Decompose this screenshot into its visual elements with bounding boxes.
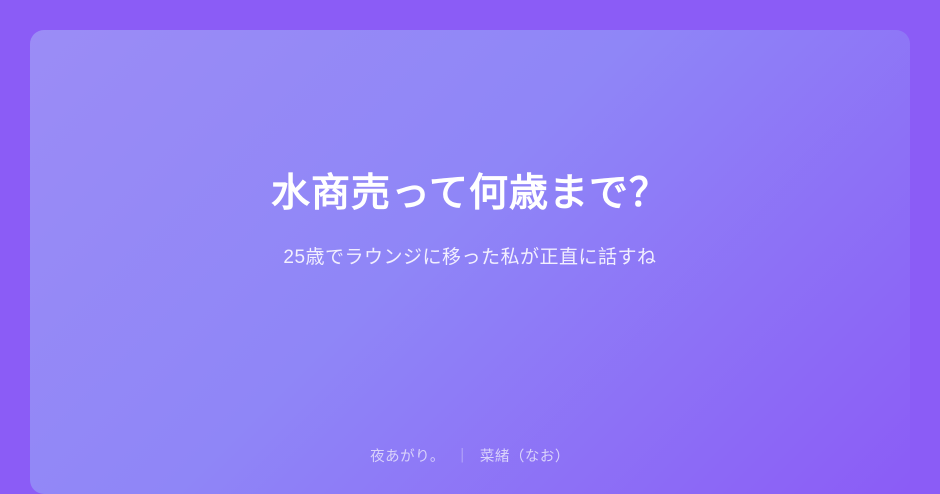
card-content: 水商売って何歳まで？ 25歳でラウンジに移った私が正直に話すね 夜あがり。 ｜ …: [30, 30, 910, 494]
page-subtitle: 25歳でラウンジに移った私が正直に話すね: [283, 245, 656, 272]
headline-block: 水商売って何歳まで？ 25歳でラウンジに移った私が正直に話すね: [30, 30, 910, 410]
page-title: 水商売って何歳まで？: [271, 168, 669, 221]
brand-name: 夜あがり。: [370, 445, 445, 466]
title-card: 水商売って何歳まで？ 25歳でラウンジに移った私が正直に話すね 夜あがり。 ｜ …: [30, 30, 910, 494]
footer-separator: ｜: [455, 445, 470, 466]
author-name: 菜緒（なお）: [480, 445, 570, 466]
slide-canvas: 水商売って何歳まで？ 25歳でラウンジに移った私が正直に話すね 夜あがり。 ｜ …: [0, 0, 940, 494]
card-footer: 夜あがり。 ｜ 菜緒（なお）: [30, 445, 910, 466]
